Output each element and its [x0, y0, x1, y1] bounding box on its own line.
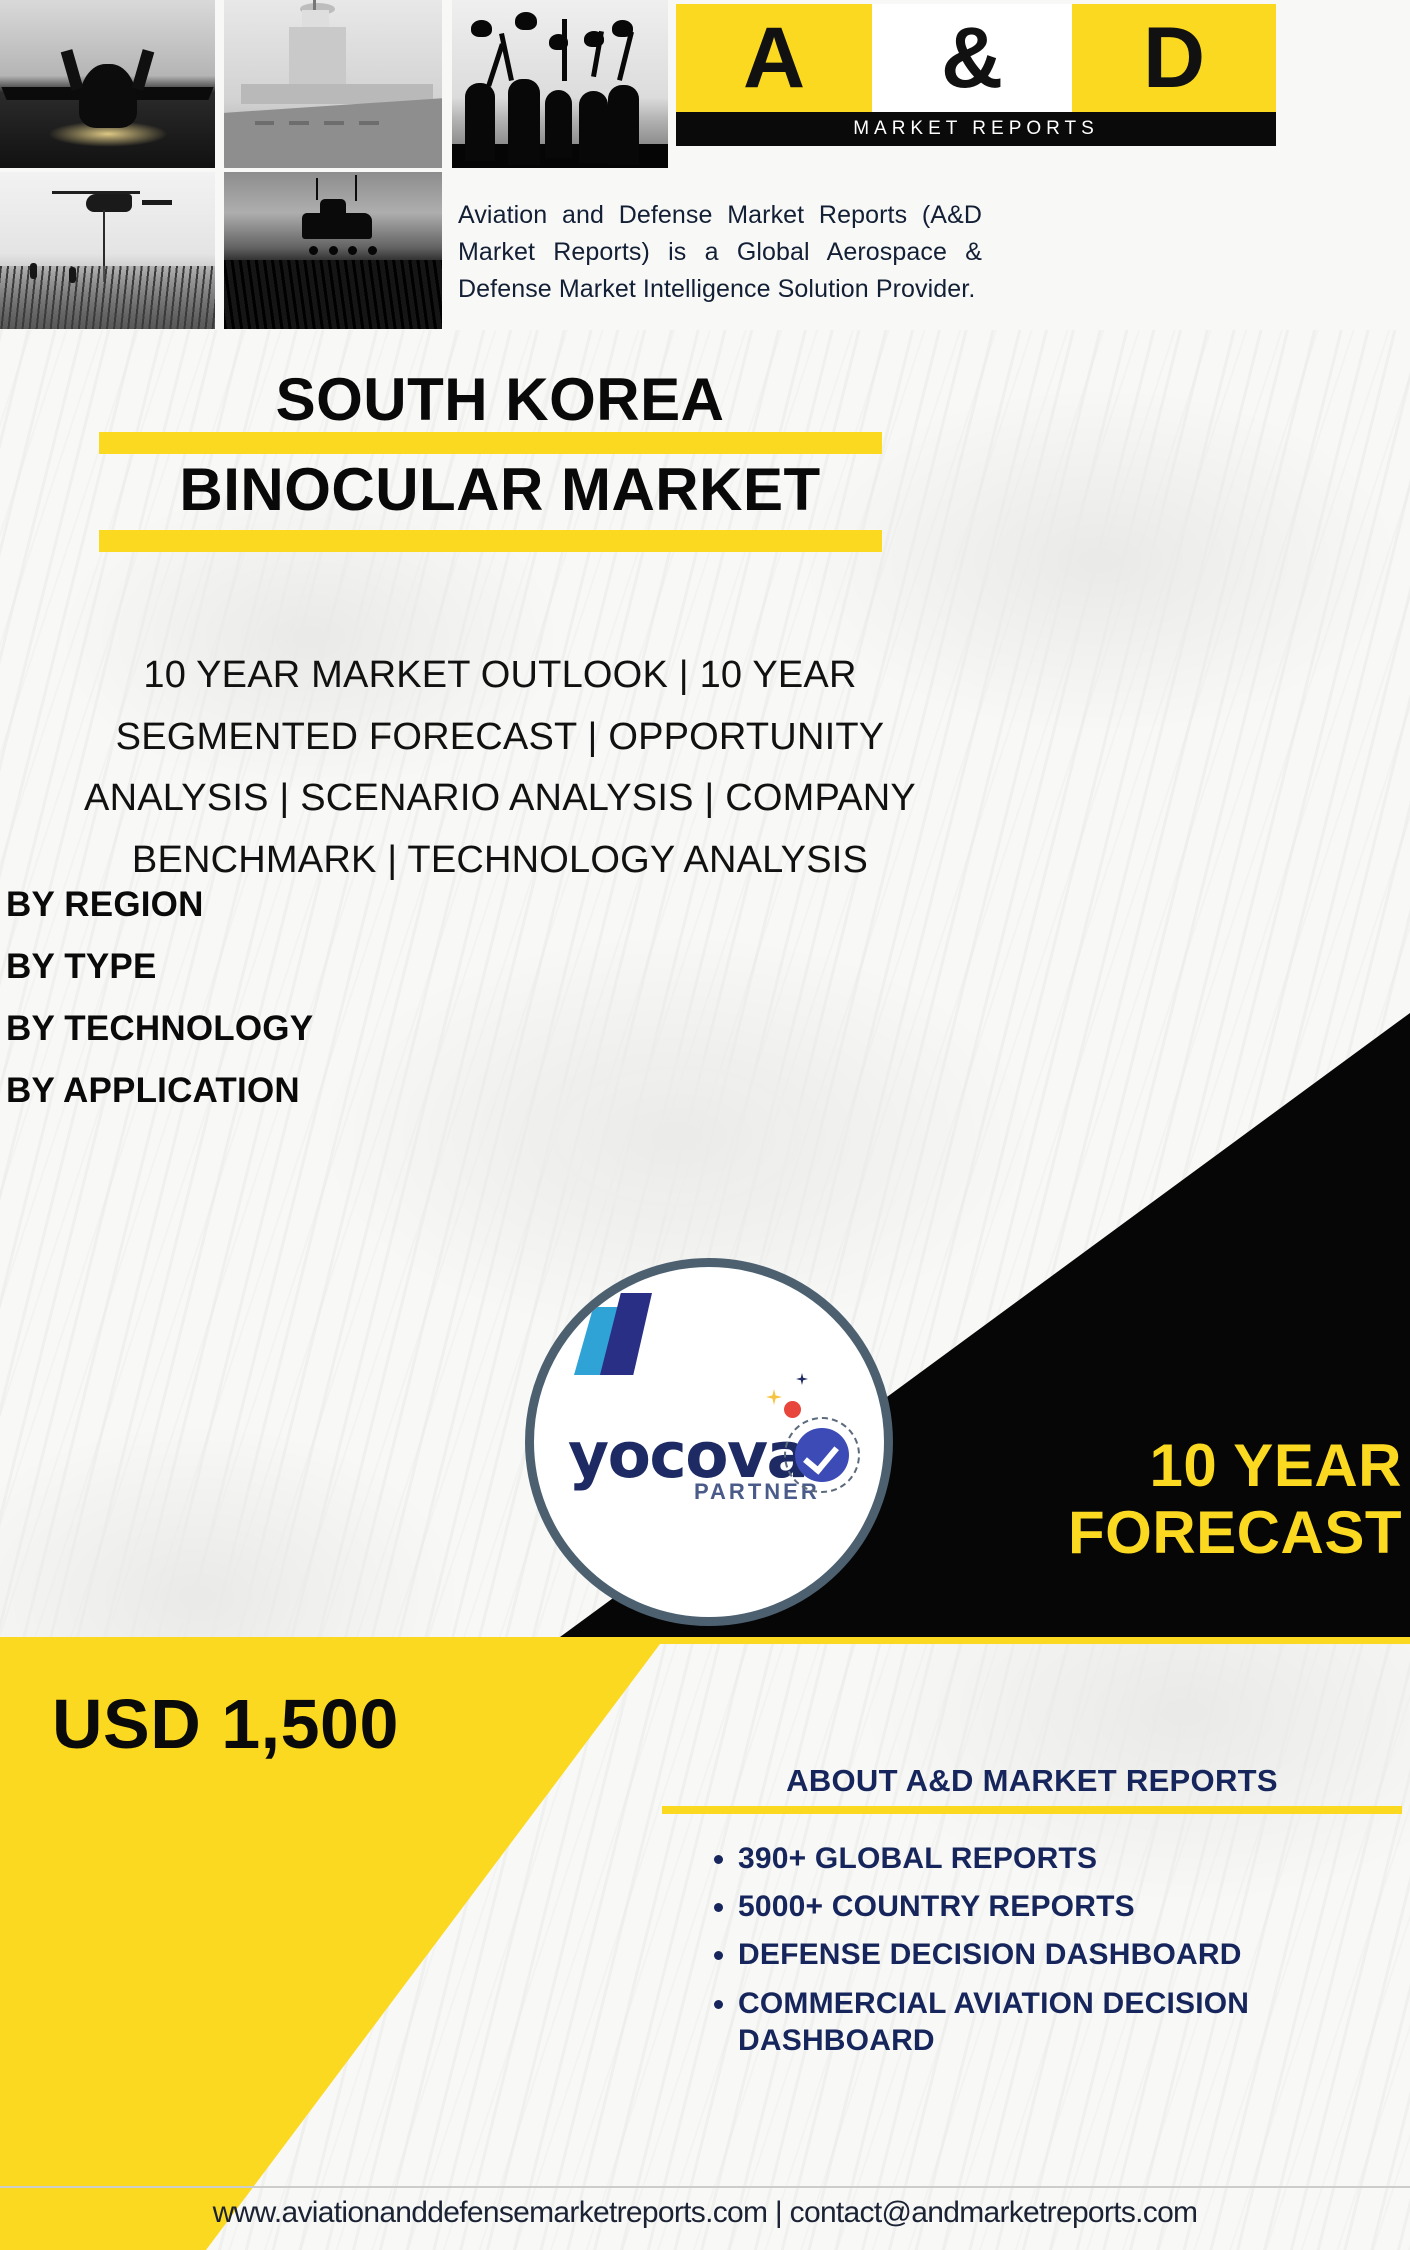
helicopter-fast-rope-photo: [0, 172, 215, 329]
aircraft-carrier-photo: [224, 0, 442, 168]
forecast-callout: 10 YEAR FORECAST: [872, 1432, 1402, 1566]
segment-item-region: BY REGION: [6, 885, 406, 925]
yocova-partner-badge: yocova PARTNER: [525, 1258, 893, 1626]
about-item-country-reports: 5000+ COUNTRY REPORTS: [738, 1888, 1410, 1925]
page-title-line2: BINOCULAR MARKET: [0, 455, 1000, 524]
about-heading: ABOUT A&D MARKET REPORTS: [662, 1763, 1402, 1799]
about-bullet-list: 390+ GLOBAL REPORTS 5000+ COUNTRY REPORT…: [700, 1840, 1410, 2070]
footer-divider: [0, 2186, 1410, 2188]
title-accent-bar-top: [99, 432, 882, 454]
logo-letters: A & D: [676, 4, 1276, 112]
fighter-jet-photo: [0, 0, 215, 168]
about-item-global-reports: 390+ GLOBAL REPORTS: [738, 1840, 1410, 1877]
title-accent-bar-bottom: [99, 530, 882, 552]
yocova-mark-icon: [574, 1293, 666, 1375]
sparkle-yellow-icon: [766, 1389, 782, 1405]
soldiers-silhouette-photo: [452, 0, 668, 168]
segment-item-technology: BY TECHNOLOGY: [6, 1009, 406, 1049]
forecast-line1: 10 YEAR: [872, 1432, 1402, 1499]
market-outlook-features: 10 YEAR MARKET OUTLOOK | 10 YEAR SEGMENT…: [20, 645, 980, 891]
armored-vehicle-photo: [224, 172, 442, 329]
about-heading-underline: [662, 1806, 1402, 1814]
segment-item-type: BY TYPE: [6, 947, 406, 987]
company-intro-paragraph: Aviation and Defense Market Reports (A&D…: [458, 197, 982, 308]
logo-ampersand: &: [872, 4, 1072, 112]
segmentation-list: BY REGION BY TYPE BY TECHNOLOGY BY APPLI…: [6, 885, 406, 1133]
sparkle-navy-icon: [796, 1373, 808, 1385]
segment-item-application: BY APPLICATION: [6, 1071, 406, 1111]
about-item-defense-dashboard: DEFENSE DECISION DASHBOARD: [738, 1936, 1410, 1973]
page-title-line1: SOUTH KOREA: [0, 365, 1000, 434]
logo-tagline-bar: MARKET REPORTS: [676, 112, 1276, 146]
logo-letter-a: A: [676, 4, 872, 112]
price-value: USD 1,500: [52, 1684, 399, 1764]
logo-tagline: MARKET REPORTS: [853, 118, 1099, 140]
verified-check-icon: [784, 1417, 860, 1493]
about-item-commercial-dashboard: COMMERCIAL AVIATION DECISION DASHBOARD: [738, 1985, 1410, 2059]
report-cover-page: A & D MARKET REPORTS Aviation and Defens…: [0, 0, 1410, 2250]
ad-market-reports-logo: A & D MARKET REPORTS: [676, 0, 1276, 150]
dot-red-icon: [784, 1401, 801, 1418]
logo-letter-d: D: [1072, 4, 1276, 112]
footer-contact[interactable]: www.aviationanddefensemarketreports.com …: [0, 2196, 1410, 2230]
forecast-line2: FORECAST: [872, 1499, 1402, 1566]
